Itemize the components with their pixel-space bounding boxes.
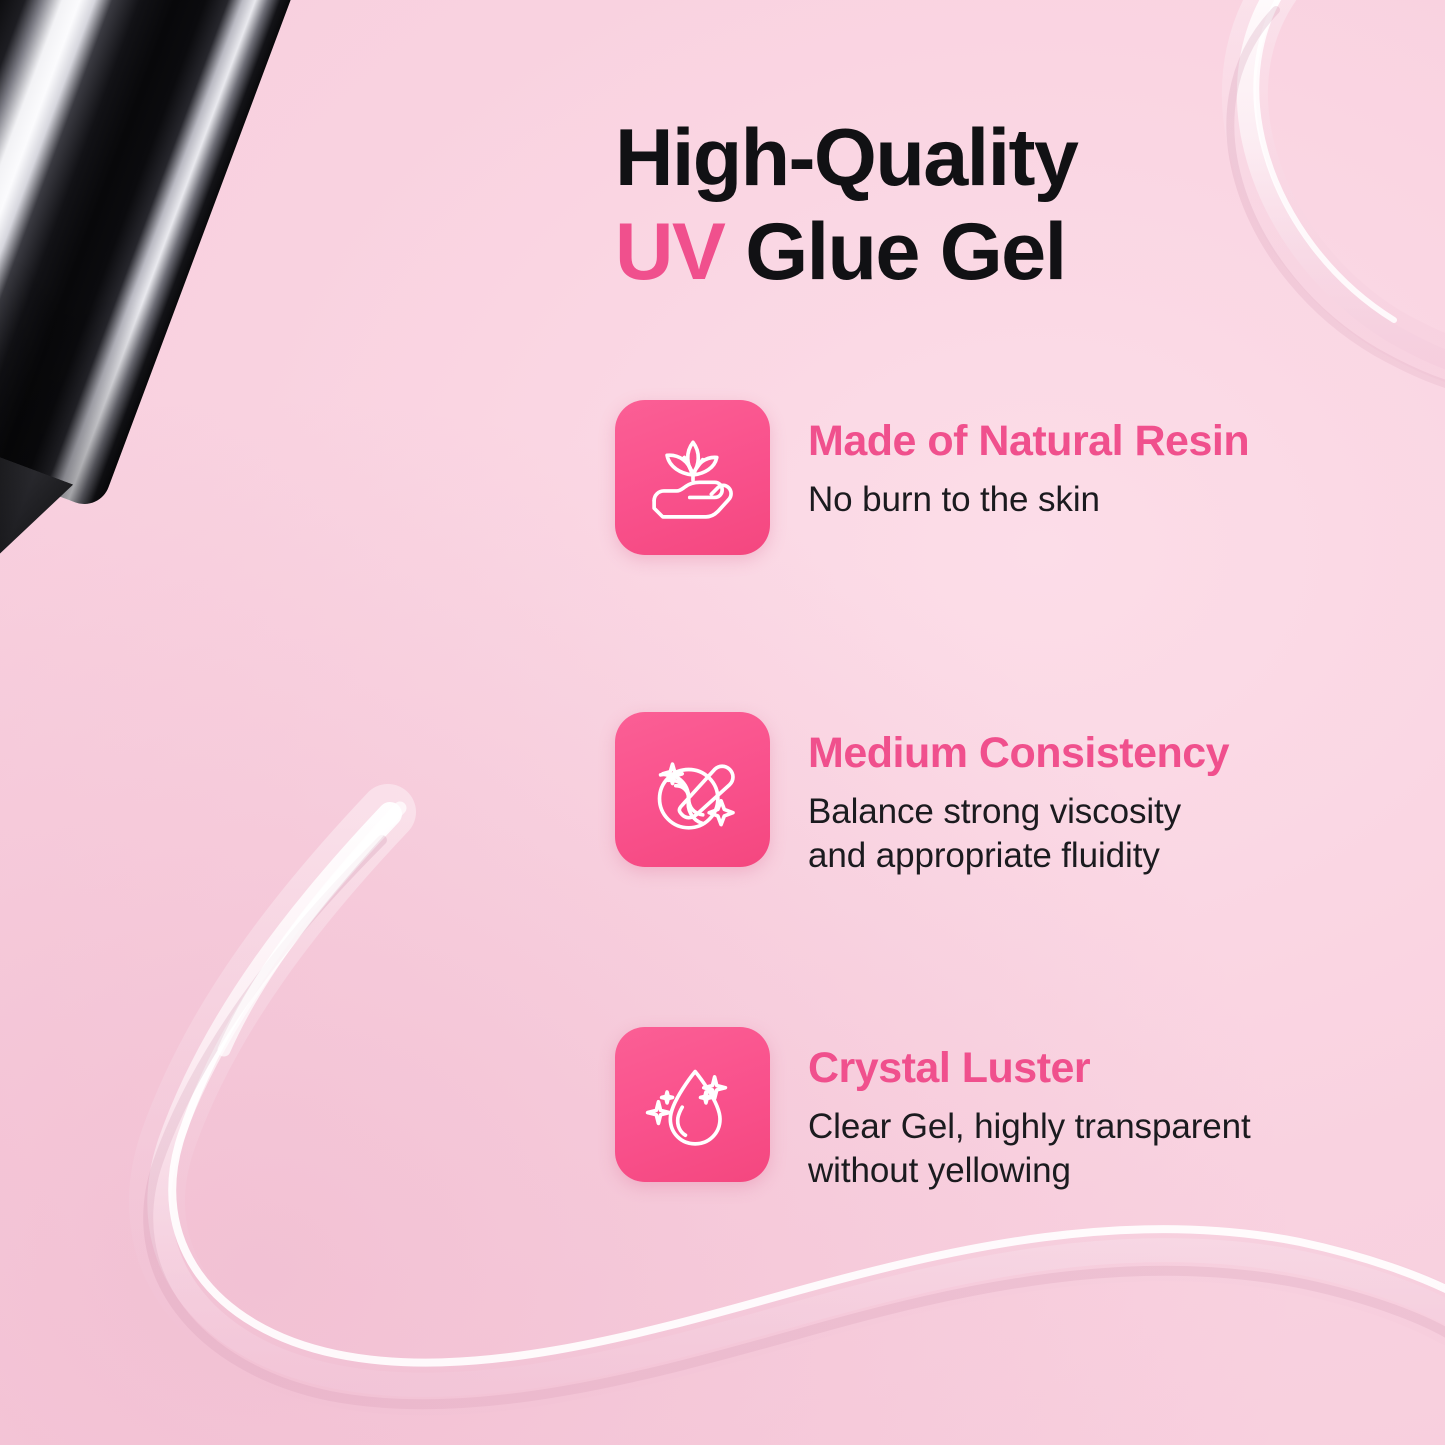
feature-text: Crystal Luster Clear Gel, highly transpa… — [808, 1027, 1251, 1193]
headline-line-1: High-Quality — [615, 112, 1435, 206]
feature-desc-line: Clear Gel, highly transparent — [808, 1105, 1251, 1149]
feature-desc-line: without yellowing — [808, 1149, 1251, 1193]
feature-medium-consistency: Medium Consistency Balance strong viscos… — [615, 712, 1435, 878]
mortar-pestle-sparkle-icon — [639, 736, 747, 844]
feature-text: Made of Natural Resin No burn to the ski… — [808, 400, 1249, 522]
feature-description: Balance strong viscosity and appropriate… — [808, 790, 1229, 878]
headline-line-2-rest: Glue Gel — [724, 207, 1065, 297]
feature-desc-line: and appropriate fluidity — [808, 834, 1229, 878]
feature-icon-tile — [615, 400, 770, 555]
feature-crystal-luster: Crystal Luster Clear Gel, highly transpa… — [615, 1027, 1435, 1193]
feature-description: No burn to the skin — [808, 478, 1249, 522]
feature-desc-line: No burn to the skin — [808, 478, 1249, 522]
headline-accent-uv: UV — [615, 207, 724, 297]
headline-line-2: UV Glue Gel — [615, 206, 1435, 300]
feature-title: Made of Natural Resin — [808, 418, 1249, 465]
feature-title: Medium Consistency — [808, 730, 1229, 777]
feature-text: Medium Consistency Balance strong viscos… — [808, 712, 1229, 878]
feature-description: Clear Gel, highly transparent without ye… — [808, 1105, 1251, 1193]
feature-desc-line: Balance strong viscosity — [808, 790, 1229, 834]
content-column: High-Quality UV Glue Gel Made of Natural… — [615, 0, 1445, 1445]
feature-icon-tile — [615, 712, 770, 867]
feature-made-of-natural-resin: Made of Natural Resin No burn to the ski… — [615, 400, 1435, 555]
feature-title: Crystal Luster — [808, 1045, 1251, 1092]
hand-holding-leaves-icon — [639, 424, 747, 532]
infographic-canvas: Net Wt. 0.53 oz / 15 g High-Quality UV G… — [0, 0, 1445, 1445]
water-droplet-sparkle-icon — [639, 1051, 747, 1159]
page-title: High-Quality UV Glue Gel — [615, 112, 1435, 300]
feature-icon-tile — [615, 1027, 770, 1182]
